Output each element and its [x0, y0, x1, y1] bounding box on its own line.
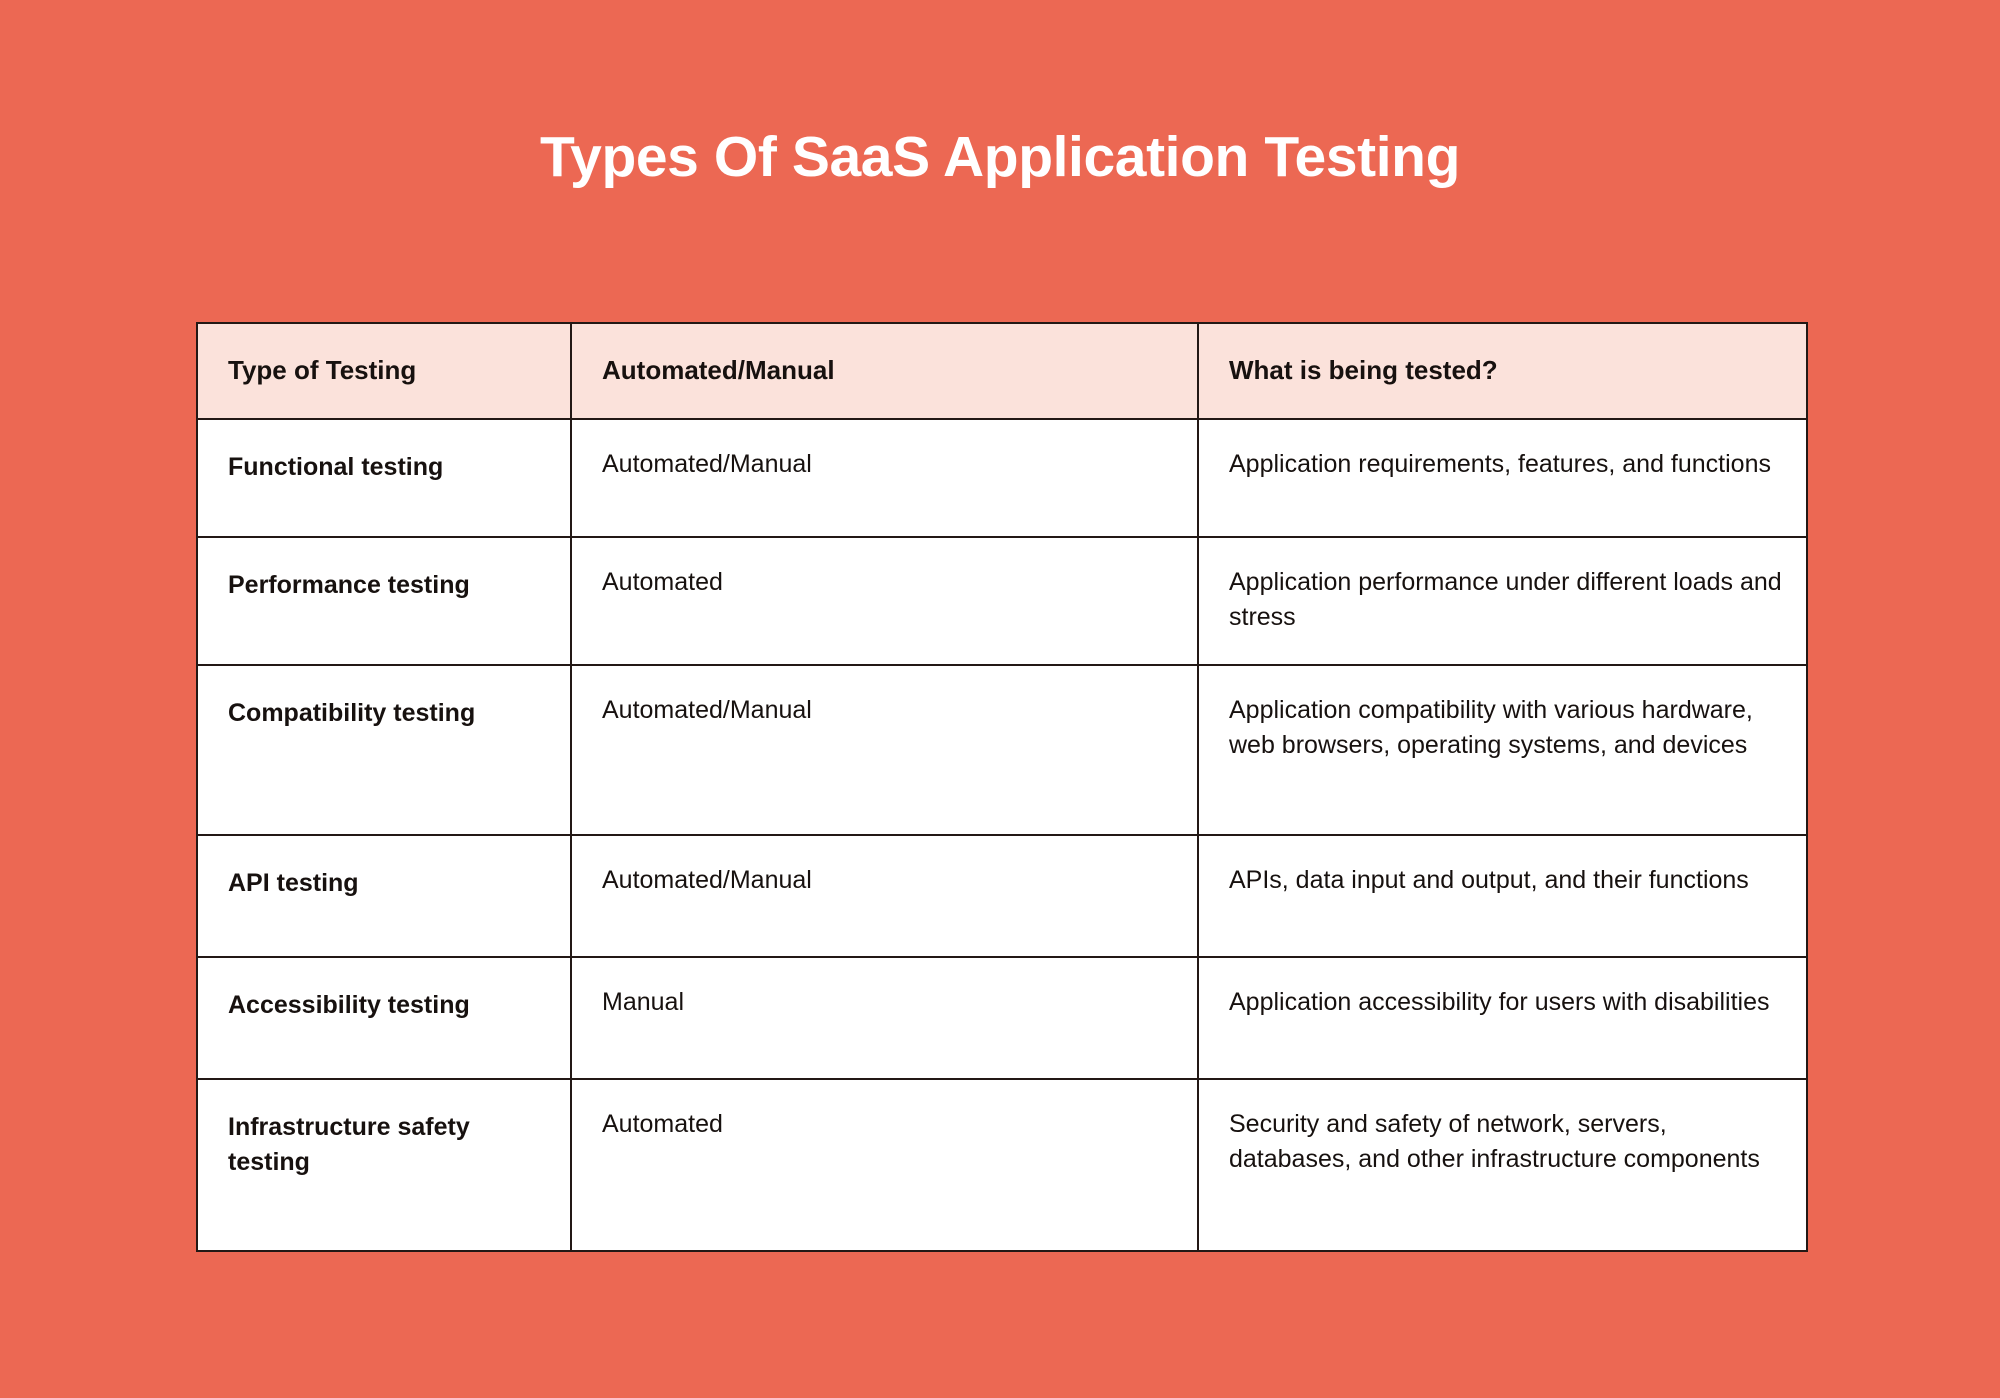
testing-types-table-wrapper: Type of Testing Automated/Manual What is…	[196, 322, 1806, 1252]
cell-automated-manual: Manual	[571, 957, 1198, 1079]
table-body: Functional testing Automated/Manual Appl…	[197, 419, 1807, 1251]
table-header-row: Type of Testing Automated/Manual What is…	[197, 323, 1807, 419]
cell-automated-manual: Automated/Manual	[571, 419, 1198, 537]
cell-what-is-being-tested: Application requirements, features, and …	[1198, 419, 1807, 537]
cell-type-of-testing: Functional testing	[197, 419, 571, 537]
table-row: Functional testing Automated/Manual Appl…	[197, 419, 1807, 537]
cell-automated-manual: Automated/Manual	[571, 665, 1198, 835]
page-root: Types Of SaaS Application Testing Type o…	[0, 0, 2000, 1398]
testing-types-table: Type of Testing Automated/Manual What is…	[196, 322, 1808, 1252]
cell-type-of-testing: Infrastructure safety testing	[197, 1079, 571, 1251]
column-header-what-is-being-tested: What is being tested?	[1198, 323, 1807, 419]
cell-type-of-testing: API testing	[197, 835, 571, 957]
cell-automated-manual: Automated	[571, 537, 1198, 665]
cell-type-of-testing: Performance testing	[197, 537, 571, 665]
table-row: Performance testing Automated Applicatio…	[197, 537, 1807, 665]
column-header-automated-manual: Automated/Manual	[571, 323, 1198, 419]
cell-what-is-being-tested: Security and safety of network, servers,…	[1198, 1079, 1807, 1251]
table-row: Accessibility testing Manual Application…	[197, 957, 1807, 1079]
table-row: Infrastructure safety testing Automated …	[197, 1079, 1807, 1251]
table-row: API testing Automated/Manual APIs, data …	[197, 835, 1807, 957]
cell-type-of-testing: Compatibility testing	[197, 665, 571, 835]
cell-automated-manual: Automated/Manual	[571, 835, 1198, 957]
cell-what-is-being-tested: Application compatibility with various h…	[1198, 665, 1807, 835]
cell-what-is-being-tested: Application performance under different …	[1198, 537, 1807, 665]
cell-what-is-being-tested: APIs, data input and output, and their f…	[1198, 835, 1807, 957]
cell-automated-manual: Automated	[571, 1079, 1198, 1251]
table-row: Compatibility testing Automated/Manual A…	[197, 665, 1807, 835]
page-title: Types Of SaaS Application Testing	[0, 126, 2000, 189]
cell-what-is-being-tested: Application accessibility for users with…	[1198, 957, 1807, 1079]
column-header-type-of-testing: Type of Testing	[197, 323, 571, 419]
table-header: Type of Testing Automated/Manual What is…	[197, 323, 1807, 419]
cell-type-of-testing: Accessibility testing	[197, 957, 571, 1079]
